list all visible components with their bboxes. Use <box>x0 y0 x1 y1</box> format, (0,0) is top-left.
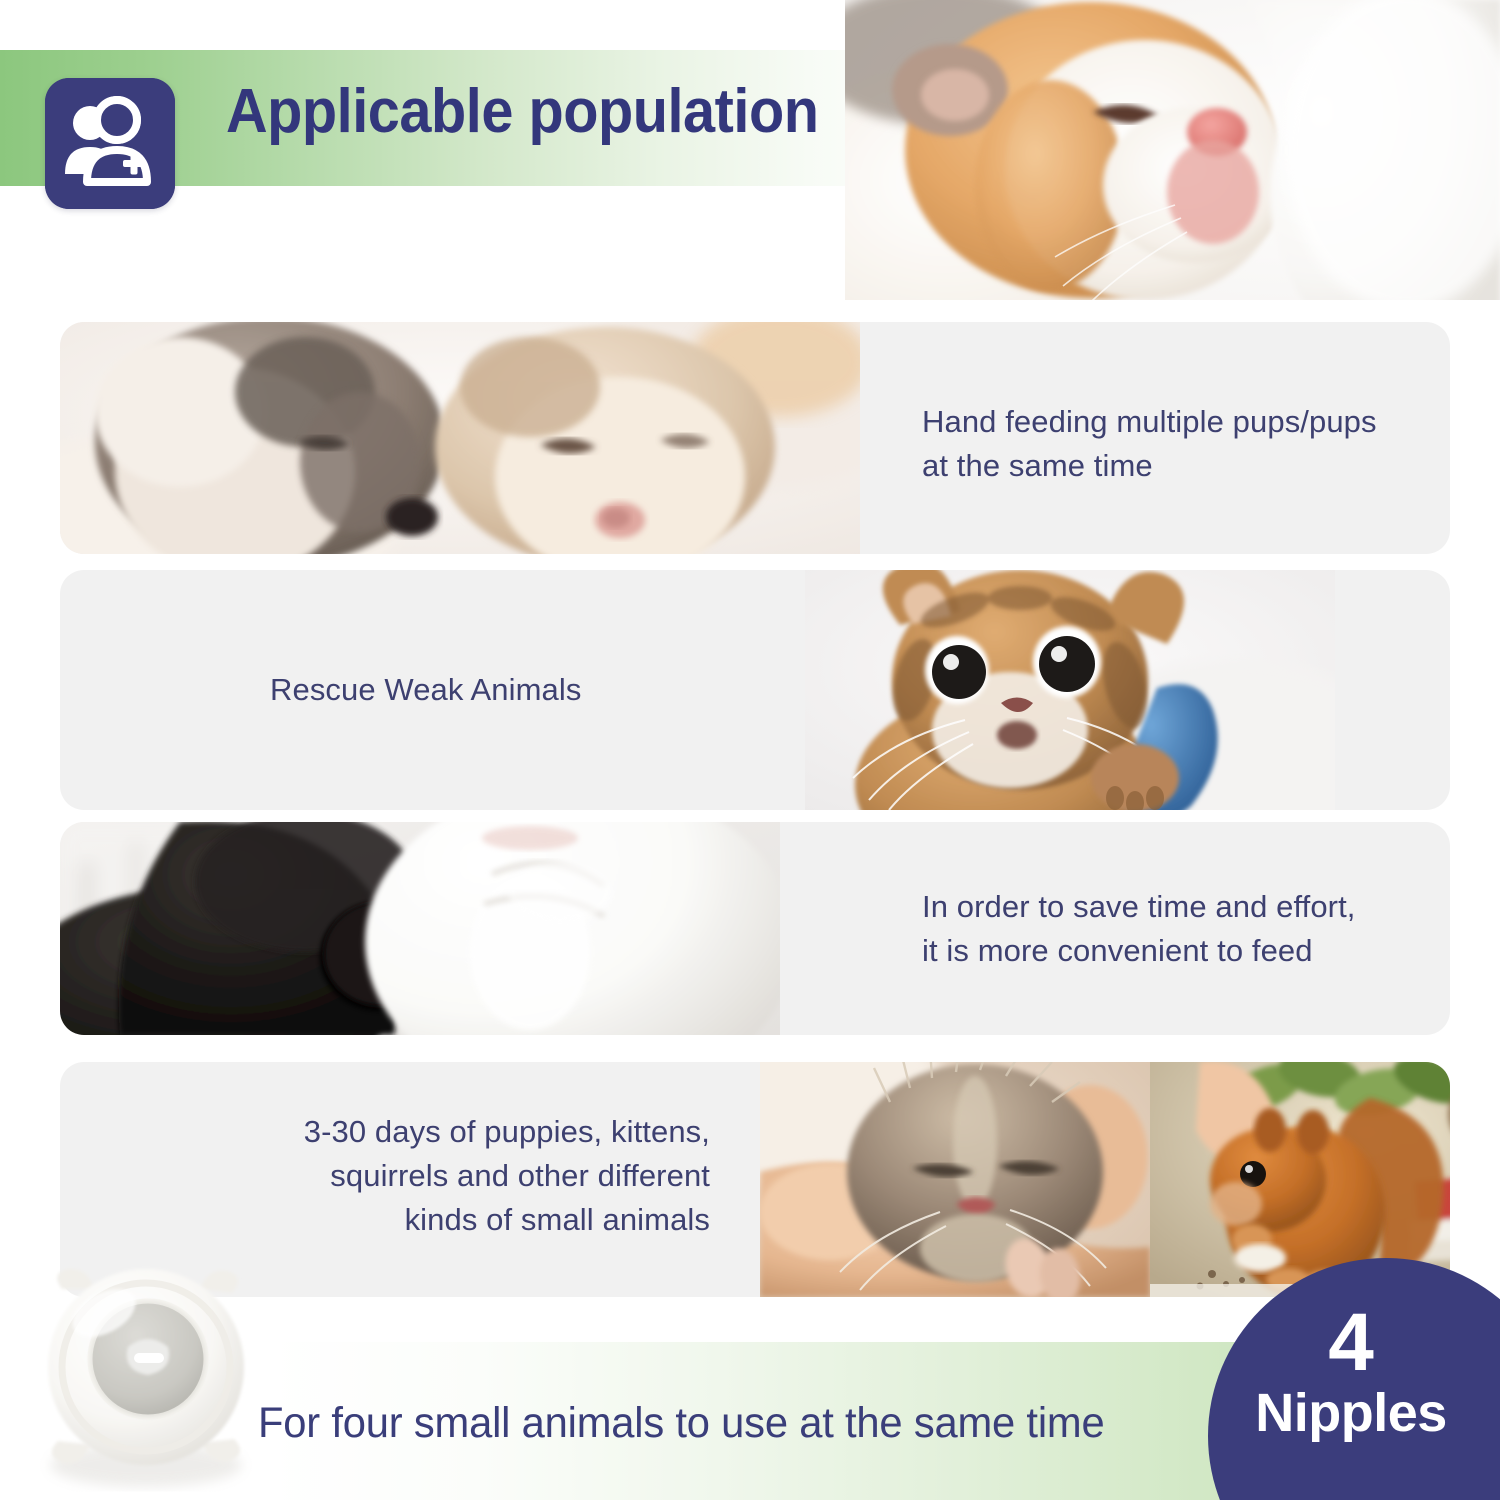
page-title: Applicable population <box>226 76 818 147</box>
badge-label: Nipples <box>1208 1386 1494 1440</box>
product-photo-nipple-cap <box>18 1255 278 1500</box>
users-plus-icon <box>45 78 175 209</box>
feature-card-rescue-weak-animals: Rescue Weak Animals <box>60 570 1450 810</box>
card-text-hand-feeding: Hand feeding multiple pups/pups at the s… <box>922 400 1377 488</box>
card-text-rescue-weak-animals: Rescue Weak Animals <box>270 668 581 712</box>
infographic-page: Applicable population <box>0 0 1500 1500</box>
feature-card-hand-feeding: Hand feeding multiple pups/pups at the s… <box>60 322 1450 554</box>
hero-photo-kitten-nursing <box>845 0 1500 318</box>
card-text-save-time-effort: In order to save time and effort, it is … <box>922 885 1356 973</box>
badge-count: 4 <box>1208 1302 1494 1384</box>
photo-black-puppy-bottle <box>60 822 780 1035</box>
photo-tabby-kitten <box>805 570 1335 810</box>
footer-caption: For four small animals to use at the sam… <box>258 1399 1104 1448</box>
card-text-animal-types: 3-30 days of puppies, kittens, squirrels… <box>250 1110 710 1242</box>
photo-husky-puppies <box>60 322 860 554</box>
feature-card-save-time-effort: In order to save time and effort, it is … <box>60 822 1450 1035</box>
